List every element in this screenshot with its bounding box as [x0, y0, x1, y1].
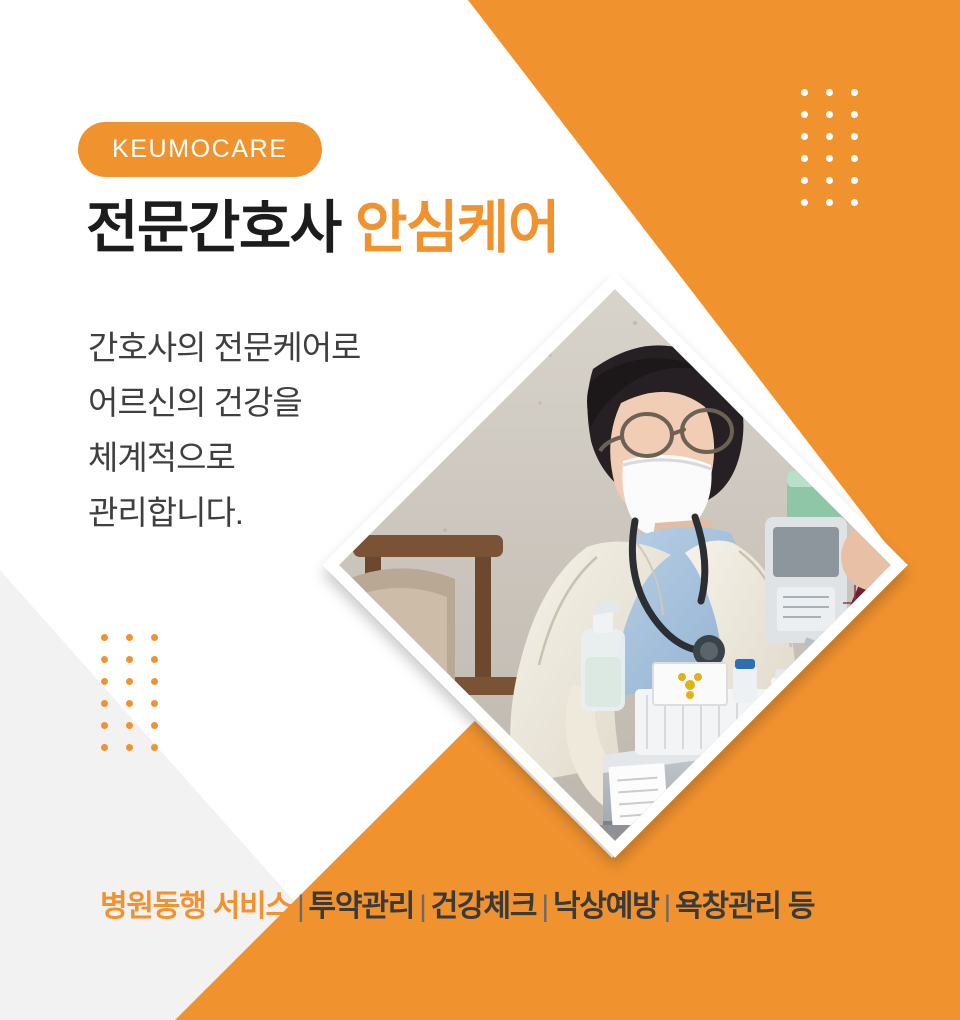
promo-banner: DK	[0, 0, 960, 1020]
body-copy-line: 간호사의 전문케어로	[88, 320, 360, 375]
brand-badge-label: KEUMOCARE	[112, 135, 288, 164]
dot	[101, 700, 108, 707]
dot	[801, 89, 808, 96]
dot	[101, 656, 108, 663]
dot	[801, 199, 808, 206]
dot	[826, 133, 833, 140]
dot	[151, 700, 158, 707]
body-copy-line: 어르신의 건강을	[88, 375, 360, 430]
dot	[801, 111, 808, 118]
dot	[151, 678, 158, 685]
dot	[126, 700, 133, 707]
dot	[101, 678, 108, 685]
body-copy: 간호사의 전문케어로 어르신의 건강을 체계적으로 관리합니다.	[88, 320, 360, 540]
caption-separator: |	[292, 890, 309, 923]
caption-item: 건강체크	[431, 890, 537, 923]
dot-grid-bottom-left	[101, 634, 158, 751]
brand-badge: KEUMOCARE	[78, 122, 322, 177]
dot	[801, 177, 808, 184]
dot	[801, 133, 808, 140]
dot	[826, 111, 833, 118]
caption-item: 욕창관리 등	[675, 890, 814, 923]
dot	[826, 177, 833, 184]
caption-separator: |	[414, 890, 431, 923]
caption-separator: |	[659, 890, 676, 923]
caption-item: 낙상예방	[553, 890, 659, 923]
dot	[151, 656, 158, 663]
dot	[151, 722, 158, 729]
body-copy-line: 관리합니다.	[88, 485, 360, 540]
dot	[126, 634, 133, 641]
caption-item: 투약관리	[309, 890, 415, 923]
headline-accent: 안심케어	[355, 196, 559, 260]
dot	[826, 199, 833, 206]
headline-primary: 전문간호사	[86, 196, 341, 260]
caption-highlight: 병원동행 서비스	[100, 890, 292, 923]
dot	[101, 634, 108, 641]
page-title: 전문간호사 안심케어	[86, 196, 559, 262]
dot	[101, 722, 108, 729]
dot	[151, 744, 158, 751]
dot	[101, 744, 108, 751]
dot	[851, 111, 858, 118]
body-copy-line: 체계적으로	[88, 430, 360, 485]
dot	[826, 89, 833, 96]
dot	[851, 155, 858, 162]
dot	[851, 199, 858, 206]
dot	[851, 133, 858, 140]
dot	[151, 634, 158, 641]
dot	[126, 744, 133, 751]
caption-separator: |	[536, 890, 553, 923]
service-list-caption: 병원동행 서비스|투약관리|건강체크|낙상예방|욕창관리 등	[100, 885, 814, 929]
dot	[851, 177, 858, 184]
dot	[826, 155, 833, 162]
dot	[801, 155, 808, 162]
dot	[126, 656, 133, 663]
dot	[126, 678, 133, 685]
dot-grid-top-right	[801, 89, 858, 206]
dot	[851, 89, 858, 96]
dot	[126, 722, 133, 729]
